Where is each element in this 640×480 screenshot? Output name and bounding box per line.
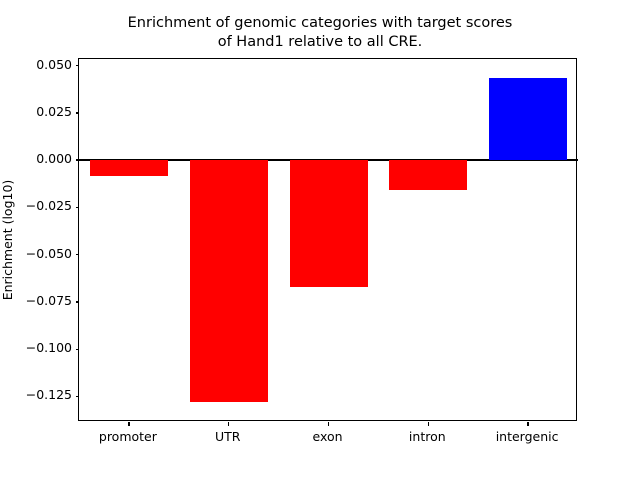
x-tick-mark <box>228 422 229 426</box>
y-tick-mark <box>76 65 80 66</box>
y-tick-mark <box>76 254 80 255</box>
bar-promoter <box>90 160 168 176</box>
figure-canvas: Enrichment of genomic categories with ta… <box>0 0 640 480</box>
y-tick-label: −0.125 <box>26 387 72 402</box>
y-tick-label: 0.025 <box>36 104 72 119</box>
x-tick-label-exon: exon <box>312 429 342 444</box>
bar-UTR <box>190 160 268 402</box>
y-tick-label: 0.050 <box>36 57 72 72</box>
y-tick-mark <box>76 349 80 350</box>
x-tick-mark <box>328 422 329 426</box>
x-tick-label-UTR: UTR <box>215 429 240 444</box>
y-tick-mark <box>76 159 80 160</box>
x-tick-mark <box>527 422 528 426</box>
y-tick-mark <box>76 207 80 208</box>
x-tick-mark <box>428 422 429 426</box>
x-tick-label-promoter: promoter <box>99 429 157 444</box>
bar-intron <box>389 160 467 190</box>
plot-area <box>78 58 577 421</box>
y-tick-label: −0.050 <box>26 246 72 261</box>
x-tick-label-intergenic: intergenic <box>496 429 559 444</box>
y-tick-mark <box>76 396 80 397</box>
x-tick-mark <box>128 422 129 426</box>
y-tick-label: 0.000 <box>36 151 72 166</box>
bar-exon <box>290 160 368 287</box>
x-tick-label-intron: intron <box>409 429 446 444</box>
y-tick-mark <box>76 301 80 302</box>
y-tick-label: −0.075 <box>26 293 72 308</box>
y-tick-label: −0.025 <box>26 198 72 213</box>
y-axis-label: Enrichment (log10) <box>0 180 15 301</box>
y-tick-label: −0.100 <box>26 340 72 355</box>
bar-intergenic <box>489 78 567 160</box>
chart-title: Enrichment of genomic categories with ta… <box>0 14 640 52</box>
y-tick-mark <box>76 112 80 113</box>
